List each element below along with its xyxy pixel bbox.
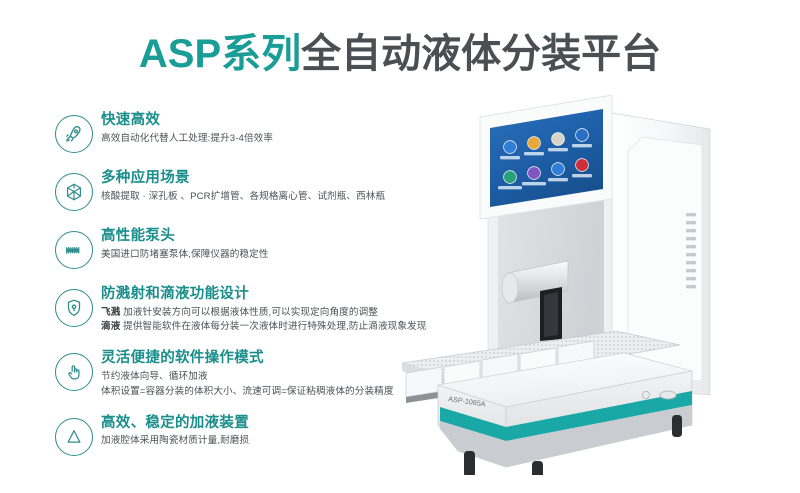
page-title: ASP系列全自动液体分装平台 <box>0 34 800 74</box>
app-icon-8[interactable] <box>576 159 589 172</box>
page-title-accent: ASP系列 <box>139 32 301 76</box>
cube-icon <box>55 173 93 211</box>
feature-desc-lead: 滴液 <box>101 321 120 332</box>
feature-desc-lead: 飞溅 <box>101 307 120 318</box>
app-icon-4[interactable] <box>576 129 589 142</box>
feature-desc-line: 高效自动化代替人工处理:提升3-4倍效率 <box>101 133 273 144</box>
handle-recess <box>660 391 676 399</box>
product-illustration: ASP-1065A <box>380 95 740 475</box>
touchscreen[interactable] <box>480 95 612 219</box>
page-title-rest: 全自动液体分装平台 <box>301 32 661 76</box>
app-icon-5[interactable] <box>504 171 517 184</box>
app-icon-6[interactable] <box>528 167 541 180</box>
app-icon-2[interactable] <box>528 137 541 150</box>
app-icon-1[interactable] <box>504 141 517 154</box>
shield-icon <box>55 289 93 327</box>
feature-desc-line: 核酸提取 · 深孔板 、PCR扩增管、各规格离心管、试剂瓶、西林瓶 <box>101 191 385 202</box>
feature-desc-line: 加液腔体采用陶瓷材质计量,耐磨损 <box>101 435 249 446</box>
rocket-icon <box>55 115 93 153</box>
app-icon-3[interactable] <box>552 133 565 146</box>
flask-triangle-icon <box>55 418 93 456</box>
pump-wave-icon <box>55 231 93 269</box>
feature-desc-line: 美国进口防堵塞泵体,保障仪器的稳定性 <box>101 249 269 260</box>
feature-desc-text: 加液针安装方向可以根据液体性质,可以实现定向角度的调整 <box>123 307 378 318</box>
app-icon-7[interactable] <box>552 163 565 176</box>
hand-click-icon <box>55 353 93 391</box>
